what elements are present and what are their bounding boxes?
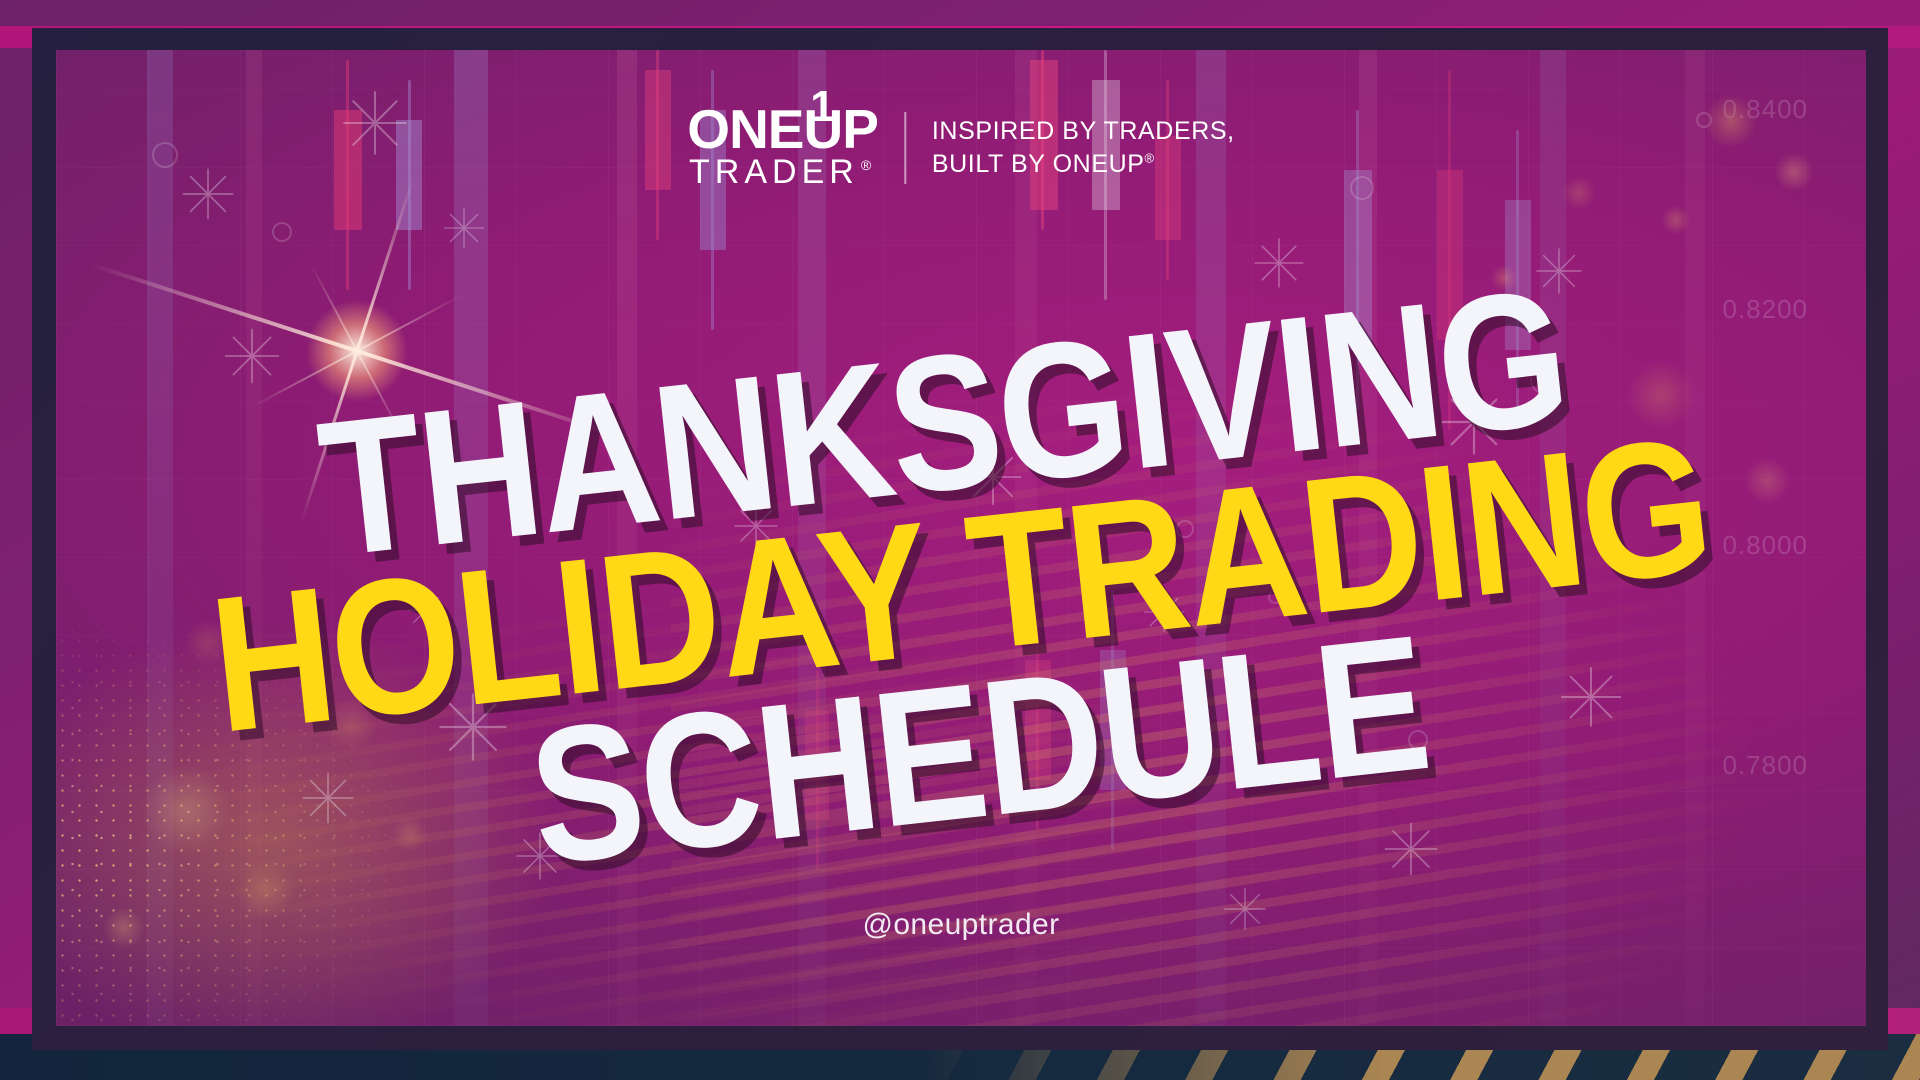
logo-numeral-one: 1	[810, 85, 833, 129]
snowflake-icon	[180, 166, 236, 222]
snowflake-icon	[340, 88, 410, 158]
brand-logo[interactable]: ONEUP 1 TRADER® INSPIRED BY TRADERS, BUI…	[687, 104, 1234, 192]
registered-icon: ®	[1145, 151, 1155, 166]
artwork-stage: 0.8400 0.8200 0.8000 0.7800	[56, 50, 1866, 1026]
brand-tagline: INSPIRED BY TRADERS, BUILT BY ONEUP®	[932, 115, 1235, 181]
price-label: 0.8000	[1722, 530, 1808, 561]
snowflake-icon	[1222, 886, 1268, 932]
price-label: 0.7800	[1722, 750, 1808, 781]
snowflake-icon	[1382, 820, 1440, 878]
promo-banner: 0.8400 0.8200 0.8000 0.7800	[0, 0, 1920, 1080]
tagline-line-2: BUILT BY ONEUP®	[932, 148, 1235, 181]
logo-divider	[904, 112, 906, 184]
snowflake-icon	[442, 206, 486, 250]
social-handle[interactable]: @oneuptrader	[862, 908, 1059, 942]
tagline-line-1: INSPIRED BY TRADERS,	[932, 115, 1235, 148]
snowflake-icon	[222, 326, 282, 386]
logo-mark: ONEUP 1 TRADER®	[687, 104, 878, 192]
logo-one: ONE	[687, 98, 803, 160]
price-label: 0.8200	[1722, 294, 1808, 325]
logo-wordmark: ONEUP 1	[687, 104, 878, 156]
inner-frame: 0.8400 0.8200 0.8000 0.7800	[32, 28, 1888, 1050]
